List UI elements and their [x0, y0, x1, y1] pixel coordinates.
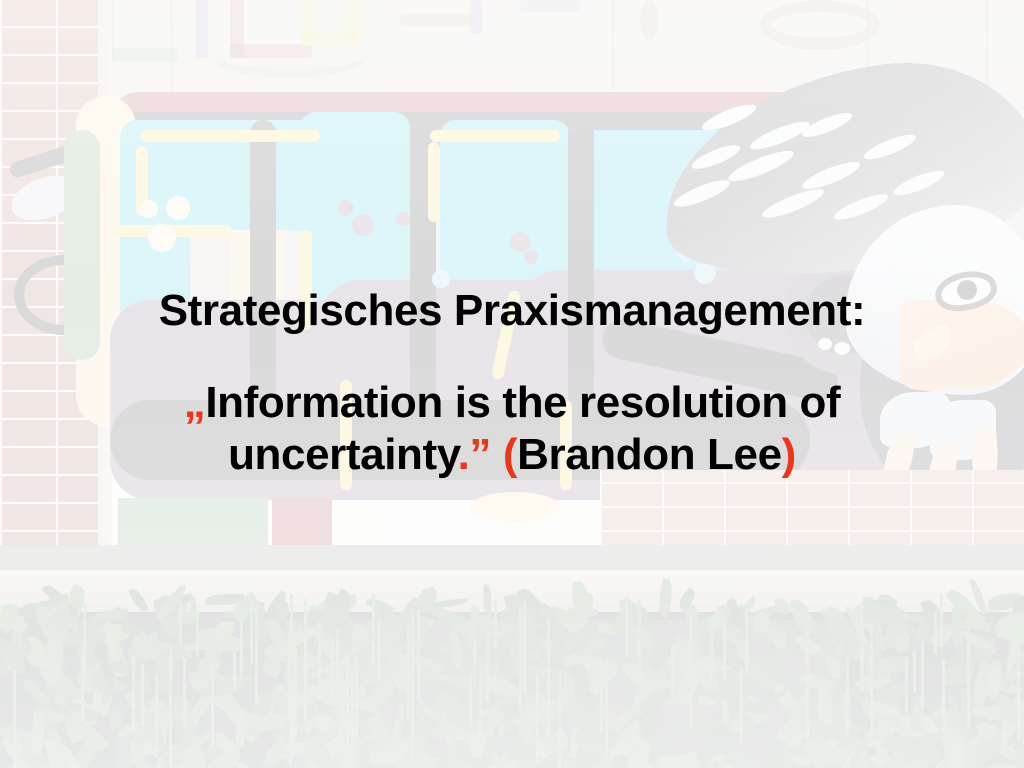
stem — [417, 609, 420, 699]
stem — [523, 601, 526, 694]
stem — [942, 659, 945, 732]
stem — [723, 622, 726, 681]
stem — [846, 658, 849, 734]
stem — [179, 601, 182, 646]
stem — [638, 599, 641, 687]
stem — [351, 671, 354, 755]
top-graffiti-glyph — [400, 14, 476, 26]
stem — [290, 594, 293, 659]
stem — [600, 668, 603, 734]
stem — [940, 594, 943, 647]
graffiti-highlight — [428, 142, 440, 222]
graffiti-highlight — [140, 130, 320, 142]
tag-scrawl — [215, 38, 365, 78]
stem — [934, 611, 937, 654]
stem — [486, 628, 489, 702]
stem — [806, 626, 809, 738]
stem — [411, 659, 414, 761]
graffiti-bubble — [396, 212, 410, 226]
top-graffiti-glyph — [640, 0, 658, 40]
paren-close: ) — [782, 430, 796, 479]
quote-attribution: Brandon Lee — [517, 430, 782, 479]
stem — [479, 669, 482, 752]
stem — [211, 663, 214, 747]
graffiti-green-lower — [118, 498, 268, 546]
stem — [346, 656, 349, 750]
stem — [558, 671, 561, 768]
stem — [141, 664, 144, 727]
graffiti-bubble — [140, 200, 158, 218]
stem — [372, 593, 375, 665]
stem — [745, 610, 748, 675]
graffiti-bubble — [148, 224, 176, 252]
stem — [336, 629, 339, 694]
stem — [671, 645, 674, 695]
graffiti-red-lower — [272, 498, 332, 546]
stem — [469, 674, 472, 727]
stem — [473, 626, 476, 682]
stem — [291, 678, 294, 757]
graffiti-bubble — [352, 214, 374, 236]
stem — [155, 675, 158, 757]
stem — [240, 620, 243, 679]
stem — [255, 607, 258, 704]
stem — [967, 629, 970, 727]
quote-period: . — [458, 430, 470, 479]
stem — [860, 604, 863, 685]
stem — [355, 657, 358, 734]
stem — [169, 650, 172, 766]
graffiti-cream-lower — [470, 492, 560, 522]
slide-text-block: Strategisches Praxismanagement: „Informa… — [0, 286, 1024, 481]
stem — [536, 675, 539, 763]
stem — [83, 604, 86, 675]
stem — [196, 612, 199, 657]
top-graffiti-glyph — [196, 0, 208, 58]
stem — [913, 650, 916, 693]
stem — [870, 622, 873, 738]
quote-close-mark: ” — [469, 430, 491, 479]
stem — [318, 622, 321, 699]
stem — [519, 607, 522, 710]
stem — [605, 667, 608, 756]
stem — [331, 639, 334, 705]
graffiti-bubble — [524, 250, 538, 264]
stem — [740, 666, 743, 746]
ledge-crumb — [210, 582, 254, 592]
stem — [494, 600, 497, 648]
top-graffiti-glyph — [470, 0, 482, 34]
paren-open: ( — [503, 430, 517, 479]
top-graffiti-glyph — [520, 0, 580, 12]
quote-line-1-text: Information is the resolution of — [205, 378, 840, 427]
stem — [377, 619, 380, 680]
stem — [183, 658, 186, 728]
stem — [689, 613, 692, 727]
quote-line-2: uncertainty.” (Brandon Lee) — [150, 429, 874, 481]
graffiti-bubble — [510, 232, 530, 252]
quote-open-mark: „ — [184, 378, 206, 427]
stem — [13, 669, 16, 768]
ledge-crumb — [430, 578, 480, 589]
stem — [625, 597, 628, 657]
ledge-crumb — [700, 582, 742, 592]
stem — [710, 640, 713, 681]
stem — [233, 652, 236, 692]
stem — [294, 636, 297, 739]
stem — [304, 599, 307, 677]
stem — [407, 626, 410, 720]
graffiti-bubble — [166, 196, 190, 220]
top-graffiti-glyph — [345, 0, 359, 40]
page-title: Strategisches Praxismanagement: — [0, 286, 1024, 335]
graffiti-highlight — [430, 130, 560, 142]
quote-block: „Information is the resolution of uncert… — [0, 377, 1024, 481]
stem — [1017, 644, 1020, 710]
presentation-slide: Strategisches Praxismanagement: „Informa… — [0, 0, 1024, 768]
quote-line-2-text: uncertainty — [228, 430, 458, 479]
stem — [921, 642, 924, 708]
stem — [132, 656, 135, 728]
stem — [250, 603, 253, 664]
graffiti-bubble — [338, 200, 354, 216]
quote-line-1: „Information is the resolution of — [150, 377, 874, 429]
stem — [340, 670, 343, 721]
stem — [905, 657, 908, 713]
top-graffiti-glyph — [760, 0, 880, 50]
stem — [547, 619, 550, 738]
